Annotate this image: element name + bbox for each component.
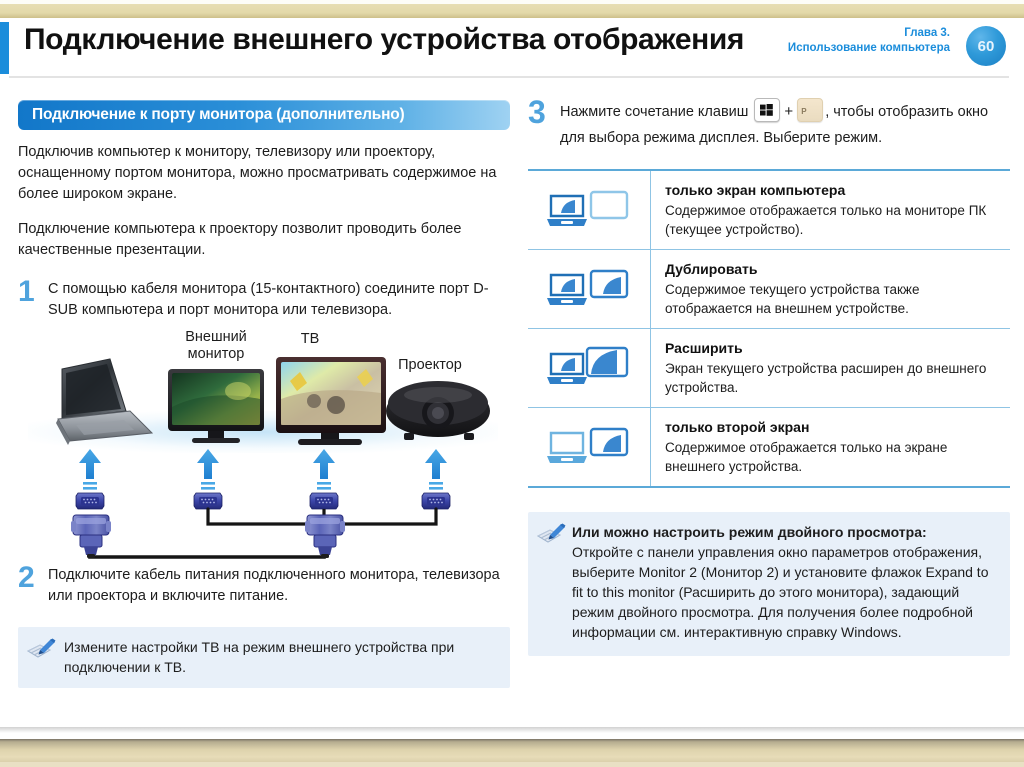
key-plus-sign: + <box>782 103 795 120</box>
display-mode-second-screen-only-icon <box>528 408 651 486</box>
diagram-cables <box>90 509 436 557</box>
note-tv-settings: Измените настройки ТВ на режим внешнего … <box>18 627 510 688</box>
mode-text-cell: только экран компьютера Содержимое отобр… <box>651 171 1010 249</box>
mode-title: только второй экран <box>665 417 1002 437</box>
tv-device <box>276 357 386 445</box>
intro-paragraph-2: Подключение компьютера к проектору позво… <box>18 219 510 261</box>
mode-desc: Содержимое отображается только на экране… <box>665 438 1002 476</box>
note-pen-icon <box>536 521 568 547</box>
display-mode-duplicate-icon <box>528 250 651 328</box>
chapter-number: Глава 3. <box>788 26 950 41</box>
mode-desc: Экран текущего устройства расширен до вн… <box>665 359 1002 397</box>
header-accent-bar <box>0 22 9 74</box>
external-monitor-device <box>168 369 264 443</box>
page-number-badge: 60 <box>966 26 1006 66</box>
page-sheet-shadow <box>0 727 1024 733</box>
chapter-name: Использование компьютера <box>788 41 950 56</box>
vga-plug-left <box>71 515 111 558</box>
step-1: 1 С помощью кабеля монитора (15-контактн… <box>18 279 510 321</box>
mode-text-cell: Дублировать Содержимое текущего устройст… <box>651 250 1010 328</box>
note-dual-view-text: Откройте с панели управления окно параме… <box>572 542 996 642</box>
p-key-label: P <box>801 99 806 125</box>
mode-text-cell: Расширить Экран текущего устройства расш… <box>651 329 1010 407</box>
step-3-text: Нажмите сочетание клавиш +P, чтобы отобр… <box>560 98 1010 151</box>
mode-title: Дублировать <box>665 259 1002 279</box>
step-3-text-before: Нажмите сочетание клавиш <box>560 104 748 120</box>
windows-logo-icon <box>760 104 773 116</box>
display-mode-extend-icon <box>528 329 651 407</box>
vga-port-sockets <box>76 493 450 509</box>
diagram-graphics <box>18 329 510 561</box>
page-title: Подключение внешнего устройства отображе… <box>24 23 744 57</box>
mode-desc: Содержимое отображается только на монито… <box>665 201 1002 239</box>
laptop-device <box>56 359 152 445</box>
top-frame-highlight <box>0 0 1024 4</box>
projector-device <box>386 381 490 440</box>
header-chapter-block: Глава 3. Использование компьютера 60 <box>806 24 1006 76</box>
step-3: 3 Нажмите сочетание клавиш +P, чтобы ото… <box>528 98 1010 151</box>
note-pen-icon <box>26 636 58 662</box>
page-root: Подключение внешнего устройства отображе… <box>0 0 1024 767</box>
intro-paragraph-1: Подключив компьютер к монитору, телевизо… <box>18 142 510 205</box>
display-modes-table: только экран компьютера Содержимое отобр… <box>528 169 1010 488</box>
note-tv-settings-text: Измените настройки ТВ на режим внешнего … <box>64 637 498 677</box>
mode-desc: Содержимое текущего устройства также ото… <box>665 280 1002 318</box>
mode-title: Расширить <box>665 338 1002 358</box>
step-2: 2 Подключите кабель питания подключенног… <box>18 565 510 607</box>
step-2-text: Подключите кабель питания подключенного … <box>48 565 510 607</box>
step-1-number: 1 <box>18 279 48 321</box>
connection-diagram: Внешниймонитор ТВ Проектор <box>18 329 510 561</box>
table-row: Дублировать Содержимое текущего устройст… <box>528 250 1010 329</box>
step-1-text: С помощью кабеля монитора (15-контактног… <box>48 279 510 321</box>
windows-key-icon[interactable] <box>754 98 780 122</box>
page-header: Подключение внешнего устройства отображе… <box>0 20 1024 78</box>
diagram-arrows <box>79 449 447 490</box>
left-column: Подключение к порту монитора (дополнител… <box>18 100 510 688</box>
mode-text-cell: только второй экран Содержимое отображае… <box>651 408 1010 486</box>
step-3-number: 3 <box>528 98 560 151</box>
right-column: 3 Нажмите сочетание клавиш +P, чтобы ото… <box>528 98 1010 656</box>
mode-title: только экран компьютера <box>665 180 1002 200</box>
step-2-number: 2 <box>18 565 48 607</box>
table-row: только экран компьютера Содержимое отобр… <box>528 171 1010 250</box>
p-key-icon[interactable]: P <box>797 98 823 122</box>
display-mode-pc-screen-only-icon <box>528 171 651 249</box>
bottom-frame-band-inner <box>0 762 1024 767</box>
section-header-monitor-port: Подключение к порту монитора (дополнител… <box>18 100 510 130</box>
table-row: Расширить Экран текущего устройства расш… <box>528 329 1010 408</box>
table-row: только второй экран Содержимое отображае… <box>528 408 1010 488</box>
vga-plug-right <box>305 515 345 558</box>
note-dual-view: Или можно настроить режим двойного просм… <box>528 512 1010 656</box>
chapter-text: Глава 3. Использование компьютера <box>788 26 950 56</box>
note-dual-view-title: Или можно настроить режим двойного просм… <box>572 522 996 542</box>
section-header-label: Подключение к порту монитора (дополнител… <box>32 106 404 124</box>
header-divider <box>9 76 1009 78</box>
